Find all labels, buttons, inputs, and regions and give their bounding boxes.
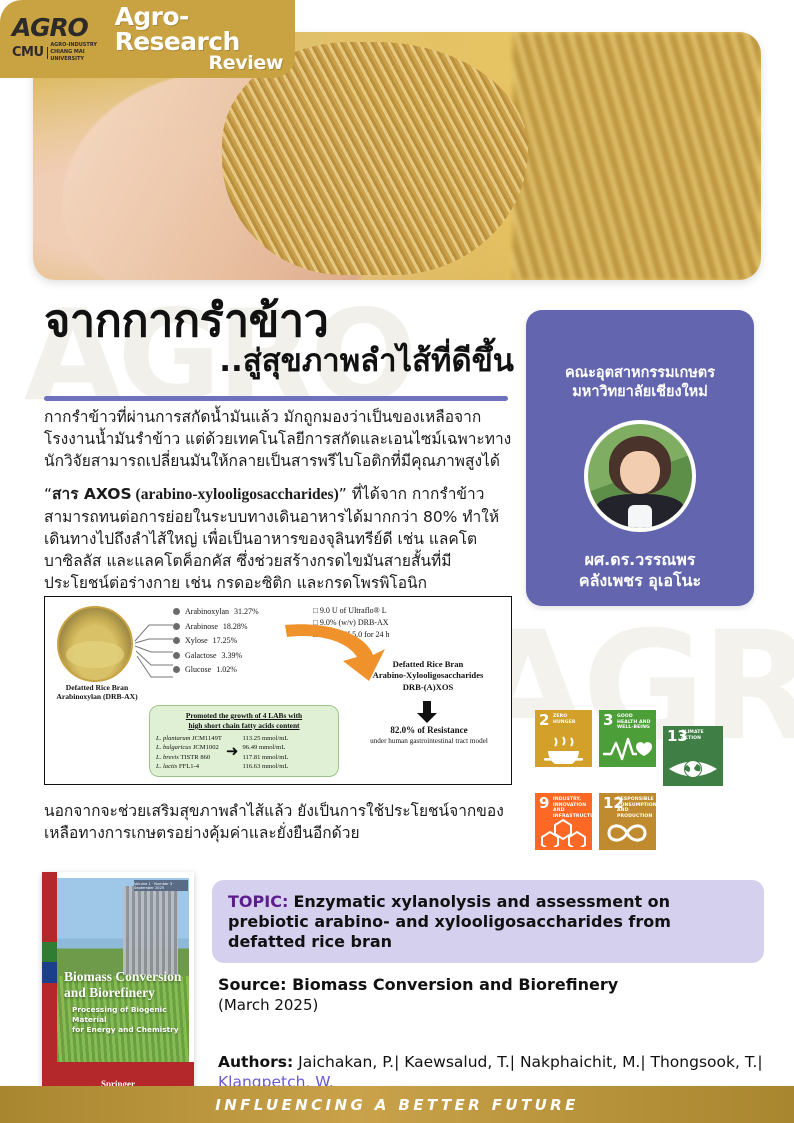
sdg-number: 9 [539, 796, 549, 811]
avatar [584, 420, 696, 532]
composition-legend: Arabinoxylan 31.27% Arabinose 18.28% Xyl… [173, 607, 259, 680]
lab-strain: L. bulgaricus JCM1002 [156, 743, 222, 752]
topic-label: TOPIC: [228, 892, 288, 911]
sdg-badge-9[interactable]: 9 INDUSTRY, INNOVATION AND INFRASTRUCTUR… [535, 793, 592, 850]
cover-subtitle-line1: Processing of Biogenic Material [72, 1005, 184, 1024]
closing-paragraph-block: นอกจากจะช่วยเสริมสุขภาพลำไส้แล้ว ยังเป็น… [44, 800, 512, 855]
lab-strain: L. brevis TISTR 860 [156, 753, 222, 762]
leader-lines [133, 611, 175, 681]
lab-strain-list: L. plantarum JCM1149T L. bulgaricus JCM1… [156, 734, 222, 771]
poster-page: AGRO AGRO AGRO CMU AGRO-INDUSTRY CHIANG … [0, 0, 794, 1123]
cmu-wordmark: CMU [12, 46, 44, 59]
legend-name: Xylose [185, 636, 208, 645]
series-title-line1: Agro-Research [115, 5, 283, 54]
cubes-icon [535, 817, 592, 847]
article-body: กากรำข้าวที่ผ่านการสกัดน้ำมันแล้ว มักถูก… [44, 406, 512, 605]
department-line1: คณะอุตสาหกรรมเกษตร [565, 364, 715, 383]
legend-item: Xylose 17.25% [173, 636, 259, 645]
headline-divider [44, 396, 508, 401]
axos-tail: ที่ได้จาก [352, 485, 407, 503]
lab-value: 116.63 mmol/mL [242, 762, 288, 771]
resistance-value: 82.0% of Resistance [341, 725, 517, 735]
lab-arrow-icon: ➜ [226, 745, 239, 760]
rice-field-background [513, 32, 761, 280]
refinery-plant-art [123, 886, 178, 975]
source-block: Source: Biomass Conversion and Biorefine… [218, 975, 770, 1015]
spine-blue-band [42, 962, 57, 982]
legend-item: Galactose 3.39% [173, 651, 259, 660]
department-line2: มหาวิทยาลัยเชียงใหม่ [565, 383, 715, 402]
lab-code: FFL1-4 [177, 763, 199, 770]
legend-item: Arabinoxylan 31.27% [173, 607, 259, 616]
heartbeat-icon [599, 734, 656, 764]
legend-name: Galactose [185, 651, 217, 660]
sdg-number: 3 [603, 713, 613, 728]
lab-code: JCM1149T [190, 735, 221, 742]
process-figure: Defatted Rice Bran Arabinoxylan (DRB-AX)… [44, 596, 512, 785]
source-date: (March 2025) [218, 996, 770, 1016]
agro-cmu-logo: AGRO CMU AGRO-INDUSTRY CHIANG MAI UNIVER… [12, 15, 104, 62]
lab-strain: L. lactis FFL1-4 [156, 762, 222, 771]
series-title-line2: Review [115, 54, 283, 73]
lab-heading-line2: high short chain fatty acids content [156, 721, 332, 731]
lab-value: 96.49 mmol/mL [242, 743, 288, 752]
authors-list: Jaichakan, P.| Kaewsalud, T.| Nakphaichi… [293, 1053, 762, 1071]
lab-species: L. plantarum [156, 735, 190, 742]
cover-subtitle-line2: for Energy and Chemistry [72, 1025, 184, 1035]
axos-term-latin: (arabino-xylooligosaccharides) [132, 486, 339, 503]
sdg-badge-2[interactable]: 2 ZERO HUNGER [535, 710, 592, 767]
journal-cover-image: Volume 1 · Number 3 · September 2025 Bio… [42, 872, 194, 1098]
legend-value: 17.25% [213, 636, 238, 645]
researcher-name-line2: คลังเพชร อุเอโนะ [579, 570, 701, 591]
source-caption-line2: Arabinoxylan (DRB-AX) [45, 692, 149, 701]
sdg-label: CLIMATE ACTION [681, 730, 721, 741]
legend-item: Arabinose 18.28% [173, 622, 259, 631]
series-title: Agro-Research Review [115, 5, 283, 73]
researcher-name-line1: ผศ.ดร.วรรณพร [579, 549, 701, 570]
authors-label: Authors: [218, 1053, 293, 1071]
cover-spine [42, 872, 57, 1098]
condition-item: 9.0 U of Ultraflo® L [313, 605, 389, 617]
headline-block: จากกากรำข้าว ..สู่สุขภาพลำไส้ที่ดีขึ้น [44, 296, 514, 379]
sdg-number: 2 [539, 713, 549, 728]
sdg-icon-group: 2 ZERO HUNGER 3 GOOD HEALTH AND WELL-BEI… [535, 710, 760, 857]
lab-strain: L. plantarum JCM1149T [156, 734, 222, 743]
lab-box-heading: Promoted the growth of 4 LABs with high … [156, 711, 332, 731]
cover-title: Biomass Conversion and Biorefinery [64, 969, 186, 1000]
cover-volume-bar: Volume 1 · Number 3 · September 2025 [134, 880, 188, 891]
legend-name: Arabinose [185, 622, 218, 631]
researcher-name: ผศ.ดร.วรรณพร คลังเพชร อุเอโนะ [579, 549, 701, 591]
headline-line2: ..สู่สุขภาพลำไส้ที่ดีขึ้น [44, 344, 514, 380]
legend-bullet-icon [173, 666, 180, 673]
logo-divider [47, 47, 48, 59]
legend-name: Arabinoxylan [185, 607, 229, 616]
legend-value: 1.02% [216, 665, 237, 674]
footer-tagline: INFLUENCING A BETTER FUTURE [215, 1096, 579, 1114]
legend-value: 31.27% [234, 607, 259, 616]
resistance-note: under human gastrointestinal tract model [341, 737, 517, 745]
bowl-steam-icon [535, 734, 592, 764]
infinity-icon [599, 817, 656, 847]
down-arrow-icon [417, 701, 437, 723]
topic-banner: TOPIC: Enzymatic xylanolysis and assessm… [212, 880, 764, 963]
legend-bullet-icon [173, 637, 180, 644]
source-journal: Source: Biomass Conversion and Biorefine… [218, 975, 770, 996]
legend-item: Glucose 1.02% [173, 665, 259, 674]
paragraph-axos: “สาร AXOS (arabino-xylooligosaccharides)… [44, 483, 512, 594]
drb-ax-sample-photo [57, 606, 133, 682]
lab-value: 117.81 mmol/mL [242, 753, 288, 762]
headline-line1: จากกากรำข้าว [44, 296, 514, 346]
sdg-badge-13[interactable]: 13 CLIMATE ACTION [663, 726, 723, 786]
lab-scfa-values: 113.25 mmol/mL 96.49 mmol/mL 117.81 mmol… [242, 734, 288, 771]
eye-earth-icon [663, 753, 723, 783]
spine-green-band [42, 942, 57, 962]
legend-bullet-icon [173, 652, 180, 659]
researcher-card: คณะอุตสาหกรรมเกษตร มหาวิทยาลัยเชียงใหม่ … [526, 310, 754, 606]
sdg-label: ZERO HUNGER [553, 714, 590, 725]
logo-subtitle-line1: AGRO-INDUSTRY [50, 42, 103, 49]
legend-bullet-icon [173, 623, 180, 630]
lab-code: JCM1002 [191, 744, 219, 751]
lab-value: 113.25 mmol/mL [242, 734, 288, 743]
legend-bullet-icon [173, 608, 180, 615]
logo-subtitle-line2: CHIANG MAI UNIVERSITY [50, 49, 103, 63]
lab-species: L. lactis [156, 763, 177, 770]
sdg-badge-3[interactable]: 3 GOOD HEALTH AND WELL-BEING [599, 710, 656, 767]
lab-species: L. bulgaricus [156, 744, 191, 751]
avatar-shirt [628, 505, 653, 528]
resistance-result: 82.0% of Resistance under human gastroin… [341, 725, 517, 745]
paragraph-intro: กากรำข้าวที่ผ่านการสกัดน้ำมันแล้ว มักถูก… [44, 406, 512, 472]
paragraph-closing: นอกจากจะช่วยเสริมสุขภาพลำไส้แล้ว ยังเป็น… [44, 800, 512, 844]
sdg-badge-12[interactable]: 12 RESPONSIBLE CONSUMPTION AND PRODUCTIO… [599, 793, 656, 850]
figure-source-caption: Defatted Rice Bran Arabinoxylan (DRB-AX) [45, 683, 149, 702]
lab-growth-box: Promoted the growth of 4 LABs with high … [149, 705, 339, 777]
conversion-arrow-icon [281, 619, 393, 685]
legend-value: 3.39% [222, 651, 243, 660]
legend-name: Glucose [185, 665, 211, 674]
sdg-label: GOOD HEALTH AND WELL-BEING [617, 714, 654, 731]
topic-title: Enzymatic xylanolysis and assessment on … [228, 892, 671, 951]
footer-bar: INFLUENCING A BETTER FUTURE [0, 1086, 794, 1123]
cover-subtitle: Processing of Biogenic Material for Ener… [72, 1005, 184, 1034]
brand-logo-chip: AGRO CMU AGRO-INDUSTRY CHIANG MAI UNIVER… [0, 0, 295, 78]
agro-wordmark: AGRO [12, 15, 104, 40]
axos-term-thai: สาร AXOS [52, 485, 132, 503]
source-caption-line1: Defatted Rice Bran [45, 683, 149, 692]
legend-value: 18.28% [223, 622, 248, 631]
department-name: คณะอุตสาหกรรมเกษตร มหาวิทยาลัยเชียงใหม่ [565, 364, 715, 402]
lab-species: L. brevis [156, 754, 179, 761]
lab-heading-line1: Promoted the growth of 4 LABs with [156, 711, 332, 721]
lab-code: TISTR 860 [179, 754, 210, 761]
avatar-face [620, 451, 660, 495]
